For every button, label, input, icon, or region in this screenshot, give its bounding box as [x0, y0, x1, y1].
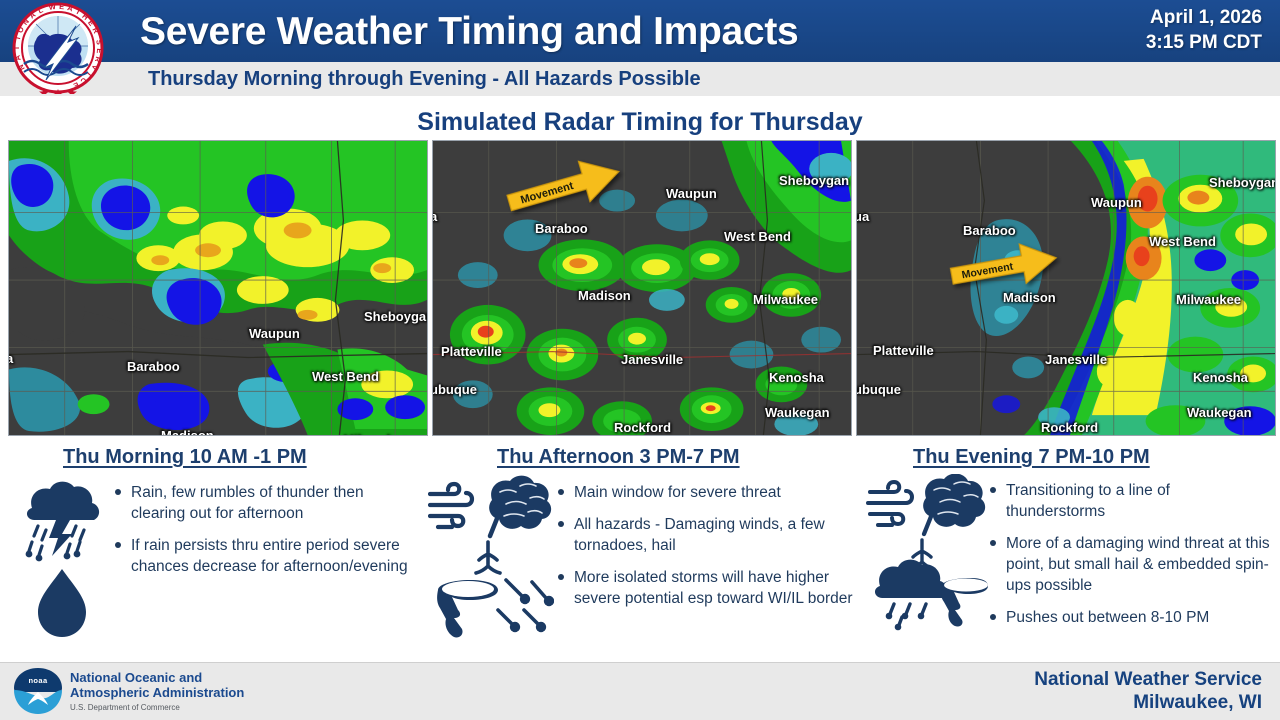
noaa-line-2: Atmospheric Administration: [70, 685, 244, 700]
issuance-datetime: April 1, 2026 3:15 PM CDT: [1012, 5, 1262, 55]
wind-icon: [868, 482, 912, 525]
wind-blown-tree-icon: [476, 476, 551, 573]
list-item: If rain persists thru entire period seve…: [115, 535, 410, 577]
wind-blown-tree-icon: [910, 474, 985, 569]
list-item: Transitioning to a line of thunderstorms: [990, 480, 1272, 522]
icon-group-evening: [866, 474, 988, 634]
column-heading-afternoon: Thu Afternoon 3 PM-7 PM: [497, 446, 740, 469]
radar-panel-evening: Sheboygan Waupun Baraboo West Bend Madis…: [856, 140, 1276, 436]
rain-cloud-icon: [875, 560, 947, 631]
list-item: Main window for severe threat: [558, 482, 863, 503]
nws-severe-weather-graphic: N A T I O N A L W E A T H E R S E R V I: [0, 0, 1280, 720]
column-heading-morning: Thu Morning 10 AM -1 PM: [63, 446, 307, 469]
noaa-line-1: National Oceanic and: [70, 670, 244, 685]
radar-panel-afternoon: Sheboygan Waupun Baraboo West Bend Madis…: [432, 140, 852, 436]
radar-image-morning: [9, 141, 427, 435]
svg-text:noaa: noaa: [28, 676, 48, 685]
svg-text:T: T: [12, 45, 21, 50]
weather-forecast-office: National Weather Service Milwaukee, WI: [1034, 668, 1262, 714]
icon-group-afternoon: [428, 474, 554, 649]
list-item: All hazards - Damaging winds, a few torn…: [558, 514, 863, 556]
bullet-list-evening: Transitioning to a line of thunderstorms…: [990, 480, 1272, 639]
page-subtitle: Thursday Morning through Evening - All H…: [148, 62, 701, 96]
column-heading-evening: Thu Evening 7 PM-10 PM: [913, 446, 1150, 469]
list-item: Pushes out between 8-10 PM: [990, 607, 1272, 628]
noaa-agency-text: National Oceanic and Atmospheric Adminis…: [70, 670, 244, 712]
list-item: More of a damaging wind threat at this p…: [990, 533, 1272, 596]
svg-text:E: E: [95, 48, 104, 54]
national-weather-service-seal-icon: N A T I O N A L W E A T H E R S E R V I: [6, 2, 110, 94]
radar-panel-row: Sheboygan Waupun Baraboo West Bend Madis…: [0, 140, 1280, 436]
page-title: Severe Weather Timing and Impacts: [140, 4, 1000, 60]
noaa-logo-icon: noaa: [12, 666, 64, 716]
thunderstorm-rain-cloud-icon: [26, 482, 99, 562]
wfo-agency-name: National Weather Service: [1034, 668, 1262, 691]
bullet-list-afternoon: Main window for severe threat All hazard…: [558, 482, 863, 620]
issuance-date: April 1, 2026: [1012, 5, 1262, 30]
svg-text:W: W: [48, 2, 56, 12]
bullet-list-morning: Rain, few rumbles of thunder then cleari…: [115, 482, 410, 588]
water-droplet-icon: [38, 569, 86, 637]
list-item: More isolated storms will have higher se…: [558, 567, 863, 609]
radar-section-title: Simulated Radar Timing for Thursday: [0, 108, 1280, 137]
radar-image-evening: [857, 141, 1275, 435]
list-item: Rain, few rumbles of thunder then cleari…: [115, 482, 410, 524]
issuance-time: 3:15 PM CDT: [1012, 30, 1262, 55]
svg-text:E: E: [59, 2, 65, 11]
wind-icon: [430, 484, 472, 527]
radar-image-afternoon: [433, 141, 851, 435]
icon-group-morning: [12, 474, 112, 644]
hail-icon: [498, 580, 554, 632]
noaa-line-3: U.S. Department of Commerce: [70, 703, 244, 712]
radar-panel-morning: Sheboygan Waupun Baraboo West Bend Madis…: [8, 140, 428, 436]
wfo-location: Milwaukee, WI: [1034, 691, 1262, 714]
tornado-icon: [437, 580, 498, 637]
tornado-icon: [941, 578, 988, 627]
